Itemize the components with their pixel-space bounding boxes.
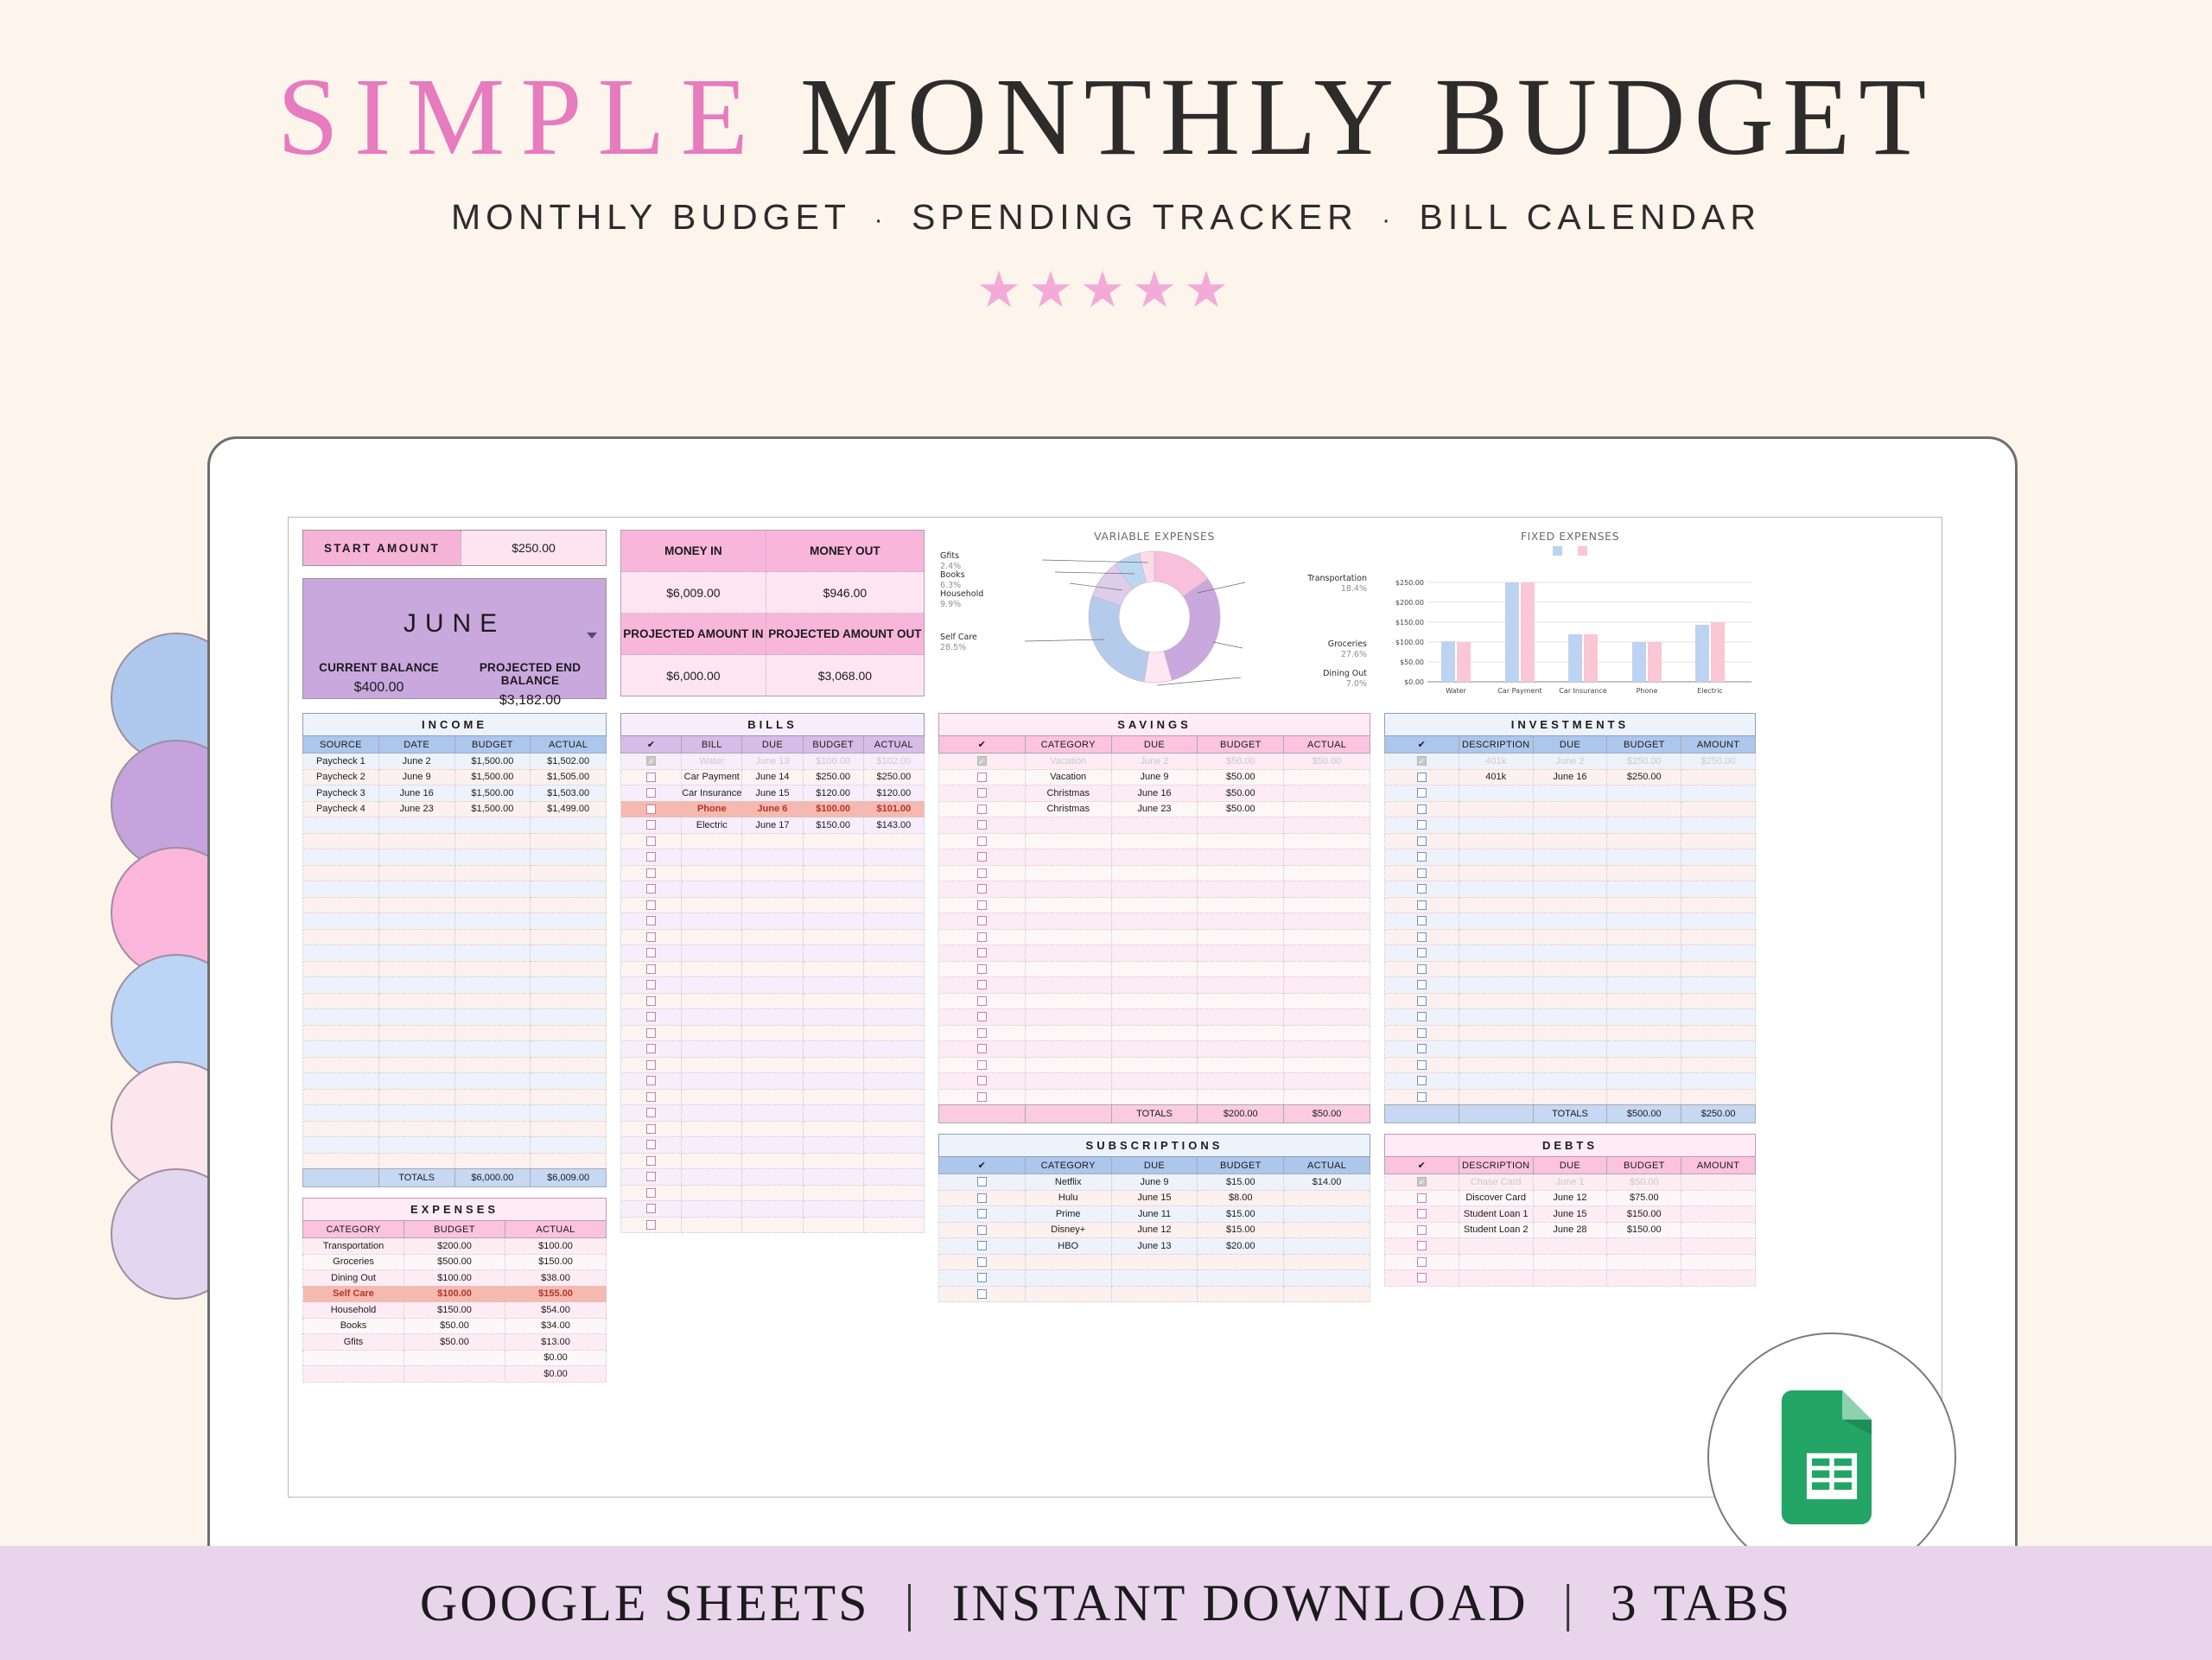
table-cell[interactable] [1607, 977, 1681, 994]
checkbox-icon[interactable] [977, 1012, 987, 1021]
table-cell[interactable] [1607, 817, 1681, 834]
table-cell[interactable] [742, 993, 803, 1009]
table-cell[interactable] [454, 1089, 531, 1105]
row-checkbox-cell[interactable] [939, 1222, 1026, 1238]
table-cell[interactable] [454, 929, 531, 945]
table-cell[interactable] [531, 1089, 607, 1105]
table-cell[interactable] [378, 945, 454, 962]
table-cell[interactable] [1533, 977, 1607, 994]
table-cell[interactable] [303, 945, 379, 962]
table-cell[interactable] [378, 993, 454, 1009]
table-cell[interactable] [1025, 1057, 1111, 1073]
table-cell[interactable] [1025, 1073, 1111, 1090]
table-cell[interactable] [378, 1137, 454, 1154]
row-checkbox-cell[interactable] [1385, 1073, 1459, 1090]
table-cell[interactable] [863, 1025, 924, 1041]
table-cell[interactable] [803, 1041, 863, 1058]
row-checkbox-cell[interactable] [621, 833, 682, 849]
table-cell[interactable] [1607, 1041, 1681, 1058]
row-checkbox-cell[interactable] [939, 801, 1026, 817]
table-cell[interactable]: HBO [1025, 1238, 1111, 1255]
table-cell[interactable]: $500.00 [404, 1254, 505, 1270]
row-checkbox-cell[interactable] [621, 945, 682, 962]
checkbox-icon[interactable] [1417, 805, 1427, 814]
table-cell[interactable] [1533, 897, 1607, 913]
table-cell[interactable]: June 16 [378, 785, 454, 802]
table-cell[interactable] [863, 865, 924, 881]
table-cell[interactable] [1681, 1073, 1756, 1090]
table-cell[interactable] [1607, 945, 1681, 962]
table-cell[interactable] [1533, 865, 1607, 881]
table-cell[interactable] [682, 1185, 742, 1201]
table-cell[interactable]: Chase Card [1459, 1174, 1533, 1191]
table-cell[interactable]: $250.00 [863, 769, 924, 785]
table-cell[interactable] [1284, 1254, 1370, 1270]
table-cell[interactable] [803, 929, 863, 945]
table-cell[interactable] [742, 833, 803, 849]
table-cell[interactable]: June 12 [1533, 1190, 1607, 1206]
table-cell[interactable] [404, 1350, 505, 1366]
table-cell[interactable] [803, 1009, 863, 1026]
table-cell[interactable] [531, 961, 607, 977]
table-cell[interactable] [1111, 961, 1198, 977]
table-cell[interactable] [1025, 1270, 1111, 1287]
table-cell[interactable] [682, 913, 742, 930]
table-cell[interactable] [1533, 929, 1607, 945]
table-cell[interactable] [1284, 1009, 1370, 1026]
checkbox-icon[interactable] [1417, 1273, 1427, 1282]
table-cell[interactable] [1111, 913, 1198, 930]
checkbox-icon[interactable] [646, 1220, 656, 1230]
table-cell[interactable] [1533, 913, 1607, 930]
checkbox-icon[interactable] [977, 916, 987, 925]
table-cell[interactable] [1607, 1089, 1681, 1105]
table-cell[interactable] [742, 929, 803, 945]
table-cell[interactable] [303, 881, 379, 898]
table-cell[interactable] [378, 913, 454, 930]
table-cell[interactable] [303, 1025, 379, 1041]
table-cell[interactable] [682, 1121, 742, 1137]
table-cell[interactable] [1284, 1238, 1370, 1255]
row-checkbox-cell[interactable] [939, 961, 1026, 977]
checkbox-icon[interactable] [646, 1140, 656, 1149]
table-cell[interactable] [1681, 769, 1756, 785]
table-cell[interactable] [863, 1057, 924, 1073]
table-cell[interactable] [1681, 913, 1756, 930]
table-cell[interactable] [303, 961, 379, 977]
table-cell[interactable] [803, 865, 863, 881]
table-cell[interactable] [378, 881, 454, 898]
table-cell[interactable] [863, 1121, 924, 1137]
checkbox-icon[interactable] [977, 836, 987, 846]
table-cell[interactable]: $143.00 [863, 817, 924, 834]
table-cell[interactable] [1681, 1009, 1756, 1026]
checkbox-icon[interactable] [646, 948, 656, 957]
table-cell[interactable] [1533, 1025, 1607, 1041]
table-cell[interactable] [803, 1105, 863, 1122]
checkbox-icon[interactable] [646, 1076, 656, 1085]
table-cell[interactable] [1025, 881, 1111, 898]
table-cell[interactable] [378, 1073, 454, 1090]
checkbox-icon[interactable] [646, 788, 656, 798]
checkbox-icon[interactable] [977, 773, 987, 782]
table-cell[interactable] [1459, 945, 1533, 962]
start-amount-value[interactable]: $250.00 [461, 531, 606, 565]
table-cell[interactable] [454, 865, 531, 881]
row-checkbox-cell[interactable] [621, 881, 682, 898]
table-cell[interactable] [1284, 977, 1370, 994]
table-cell[interactable]: June 2 [378, 754, 454, 770]
table-cell[interactable] [1459, 1089, 1533, 1105]
table-cell[interactable] [303, 1153, 379, 1169]
checkbox-icon[interactable] [1417, 1028, 1427, 1038]
table-cell[interactable] [378, 865, 454, 881]
table-cell[interactable]: June 9 [1111, 1174, 1198, 1191]
checkbox-icon[interactable] [646, 820, 656, 830]
row-checkbox-cell[interactable] [1385, 1057, 1459, 1073]
table-cell[interactable] [378, 817, 454, 834]
table-cell[interactable]: $0.00 [505, 1350, 607, 1366]
table-cell[interactable] [1198, 961, 1284, 977]
row-checkbox-cell[interactable]: ✓ [1385, 754, 1459, 770]
table-cell[interactable] [863, 897, 924, 913]
row-checkbox-cell[interactable] [621, 1217, 682, 1233]
table-cell[interactable]: Student Loan 2 [1459, 1222, 1533, 1238]
table-cell[interactable] [1111, 1041, 1198, 1058]
table-cell[interactable]: $150.00 [1607, 1206, 1681, 1223]
table-cell[interactable] [531, 817, 607, 834]
row-checkbox-cell[interactable] [1385, 801, 1459, 817]
table-cell[interactable] [742, 1217, 803, 1233]
table-cell[interactable] [454, 1137, 531, 1154]
table-cell[interactable] [1111, 849, 1198, 866]
table-cell[interactable] [531, 977, 607, 994]
table-cell[interactable]: June 13 [1111, 1238, 1198, 1255]
table-cell[interactable] [1198, 1009, 1284, 1026]
table-cell[interactable] [682, 1009, 742, 1026]
table-cell[interactable] [1025, 897, 1111, 913]
row-checkbox-cell[interactable] [621, 769, 682, 785]
row-checkbox-cell[interactable] [621, 1089, 682, 1105]
checkbox-icon[interactable] [646, 1092, 656, 1102]
table-cell[interactable] [531, 865, 607, 881]
table-cell[interactable] [863, 977, 924, 994]
checkbox-icon[interactable] [977, 1177, 987, 1186]
checkbox-icon[interactable] [977, 1209, 987, 1218]
table-cell[interactable]: June 28 [1533, 1222, 1607, 1238]
table-cell[interactable] [1284, 913, 1370, 930]
row-checkbox-cell[interactable] [621, 977, 682, 994]
table-cell[interactable]: $100.00 [505, 1238, 607, 1255]
chevron-down-icon[interactable] [587, 633, 597, 639]
table-cell[interactable]: $8.00 [1198, 1190, 1284, 1206]
table-cell[interactable]: $50.00 [1198, 769, 1284, 785]
table-cell[interactable] [1607, 1073, 1681, 1090]
table-cell[interactable] [1459, 1270, 1533, 1287]
row-checkbox-cell[interactable]: ✓ [1385, 1174, 1459, 1191]
table-cell[interactable] [454, 913, 531, 930]
row-checkbox-cell[interactable] [939, 833, 1026, 849]
row-checkbox-cell[interactable] [621, 913, 682, 930]
table-cell[interactable] [1111, 1073, 1198, 1090]
row-checkbox-cell[interactable] [621, 1009, 682, 1026]
table-cell[interactable] [742, 1169, 803, 1186]
checkbox-icon[interactable] [646, 773, 656, 782]
table-cell[interactable] [1284, 1089, 1370, 1105]
table-cell[interactable] [378, 929, 454, 945]
table-cell[interactable] [803, 1073, 863, 1090]
table-cell[interactable] [1459, 833, 1533, 849]
table-cell[interactable]: $50.00 [1198, 785, 1284, 802]
checkbox-icon[interactable] [646, 1204, 656, 1213]
row-checkbox-cell[interactable] [1385, 785, 1459, 802]
checkbox-icon[interactable] [977, 1257, 987, 1267]
table-cell[interactable] [1198, 913, 1284, 930]
table-cell[interactable] [863, 961, 924, 977]
table-cell[interactable] [1284, 1073, 1370, 1090]
checkbox-icon[interactable] [646, 964, 656, 974]
checkbox-icon[interactable] [1417, 916, 1427, 925]
row-checkbox-cell[interactable] [621, 1041, 682, 1058]
table-cell[interactable]: Discover Card [1459, 1190, 1533, 1206]
row-checkbox-cell[interactable] [621, 993, 682, 1009]
table-cell[interactable] [1533, 833, 1607, 849]
table-cell[interactable] [1198, 1073, 1284, 1090]
table-cell[interactable] [1025, 1025, 1111, 1041]
table-cell[interactable] [1198, 833, 1284, 849]
checkbox-icon[interactable] [1417, 948, 1427, 957]
table-cell[interactable] [1198, 1041, 1284, 1058]
checkbox-icon[interactable] [646, 916, 656, 925]
table-cell[interactable] [303, 1366, 404, 1383]
table-cell[interactable] [1025, 1286, 1111, 1302]
table-cell[interactable] [863, 833, 924, 849]
table-cell[interactable]: $75.00 [1607, 1190, 1681, 1206]
table-cell[interactable] [742, 865, 803, 881]
table-cell[interactable] [378, 897, 454, 913]
table-cell[interactable] [1025, 945, 1111, 962]
table-cell[interactable] [742, 1073, 803, 1090]
table-cell[interactable] [454, 833, 531, 849]
row-checkbox-cell[interactable] [939, 977, 1026, 994]
row-checkbox-cell[interactable] [621, 849, 682, 866]
table-cell[interactable]: June 16 [1533, 769, 1607, 785]
row-checkbox-cell[interactable] [939, 1254, 1026, 1270]
table-cell[interactable] [454, 1009, 531, 1026]
row-checkbox-cell[interactable] [939, 1089, 1026, 1105]
table-cell[interactable]: June 6 [742, 801, 803, 817]
table-cell[interactable]: $155.00 [505, 1286, 607, 1302]
table-cell[interactable] [1607, 1025, 1681, 1041]
checkbox-icon[interactable] [977, 1092, 987, 1102]
table-cell[interactable] [1198, 945, 1284, 962]
checkbox-icon[interactable] [977, 900, 987, 910]
table-cell[interactable] [1533, 1057, 1607, 1073]
row-checkbox-cell[interactable] [621, 1137, 682, 1154]
checkbox-icon[interactable] [977, 1225, 987, 1235]
table-cell[interactable] [1284, 865, 1370, 881]
table-cell[interactable] [1111, 1057, 1198, 1073]
row-checkbox-cell[interactable] [1385, 1206, 1459, 1223]
table-cell[interactable] [742, 881, 803, 898]
table-cell[interactable] [1025, 913, 1111, 930]
table-cell[interactable] [803, 849, 863, 866]
table-cell[interactable]: Christmas [1025, 785, 1111, 802]
table-cell[interactable] [1533, 817, 1607, 834]
row-checkbox-cell[interactable] [1385, 1270, 1459, 1287]
row-checkbox-cell[interactable] [939, 1270, 1026, 1287]
row-checkbox-cell[interactable] [939, 1206, 1026, 1223]
table-cell[interactable] [1198, 977, 1284, 994]
table-cell[interactable] [1681, 1190, 1756, 1206]
table-cell[interactable] [803, 1185, 863, 1201]
table-cell[interactable] [742, 1057, 803, 1073]
table-cell[interactable] [742, 1089, 803, 1105]
table-cell[interactable] [1681, 1254, 1756, 1270]
table-cell[interactable] [1459, 993, 1533, 1009]
table-cell[interactable] [1607, 785, 1681, 802]
table-cell[interactable]: $38.00 [505, 1270, 607, 1287]
checkbox-icon[interactable] [977, 1289, 987, 1299]
row-checkbox-cell[interactable] [621, 1185, 682, 1201]
row-checkbox-cell[interactable] [1385, 1190, 1459, 1206]
table-cell[interactable]: Groceries [303, 1254, 404, 1270]
table-cell[interactable] [1284, 817, 1370, 834]
table-cell[interactable] [1533, 1089, 1607, 1105]
table-cell[interactable] [378, 961, 454, 977]
table-cell[interactable] [454, 1041, 531, 1058]
table-cell[interactable] [1681, 945, 1756, 962]
table-cell[interactable] [742, 961, 803, 977]
table-cell[interactable] [303, 1041, 379, 1058]
checkbox-icon[interactable] [646, 1156, 656, 1166]
row-checkbox-cell[interactable] [939, 769, 1026, 785]
table-cell[interactable] [742, 897, 803, 913]
row-checkbox-cell[interactable] [1385, 993, 1459, 1009]
table-cell[interactable] [1459, 865, 1533, 881]
table-cell[interactable] [1459, 1238, 1533, 1255]
table-cell[interactable] [803, 897, 863, 913]
checkbox-icon[interactable] [1417, 1225, 1427, 1235]
table-cell[interactable] [1681, 1222, 1756, 1238]
row-checkbox-cell[interactable] [939, 913, 1026, 930]
table-cell[interactable] [682, 1073, 742, 1090]
table-cell[interactable]: Car Insurance [682, 785, 742, 802]
table-cell[interactable] [531, 1025, 607, 1041]
table-cell[interactable] [531, 1057, 607, 1073]
table-cell[interactable] [1681, 801, 1756, 817]
table-cell[interactable]: Paycheck 2 [303, 769, 379, 785]
table-cell[interactable] [803, 1217, 863, 1233]
checkbox-icon[interactable] [977, 948, 987, 957]
table-cell[interactable] [1111, 929, 1198, 945]
table-cell[interactable] [454, 881, 531, 898]
checkbox-icon[interactable] [977, 820, 987, 830]
table-cell[interactable] [531, 1121, 607, 1137]
table-cell[interactable]: $34.00 [505, 1318, 607, 1334]
table-cell[interactable] [863, 913, 924, 930]
table-cell[interactable] [378, 1089, 454, 1105]
table-cell[interactable]: Electric [682, 817, 742, 834]
checkbox-icon[interactable] [977, 805, 987, 814]
checkbox-icon[interactable] [977, 964, 987, 974]
table-cell[interactable] [1459, 785, 1533, 802]
table-cell[interactable] [1198, 849, 1284, 866]
row-checkbox-cell[interactable] [939, 849, 1026, 866]
table-cell[interactable] [1681, 993, 1756, 1009]
table-cell[interactable] [1681, 1057, 1756, 1073]
checkbox-icon[interactable] [1417, 773, 1427, 782]
table-cell[interactable] [1284, 1286, 1370, 1302]
row-checkbox-cell[interactable] [1385, 769, 1459, 785]
table-cell[interactable] [682, 865, 742, 881]
table-cell[interactable] [742, 1105, 803, 1122]
table-cell[interactable]: Christmas [1025, 801, 1111, 817]
table-cell[interactable] [531, 993, 607, 1009]
table-cell[interactable] [1681, 1206, 1756, 1223]
table-cell[interactable] [1681, 1270, 1756, 1287]
checkbox-icon[interactable] [646, 1012, 656, 1021]
table-cell[interactable]: June 14 [742, 769, 803, 785]
table-cell[interactable] [1533, 1238, 1607, 1255]
table-cell[interactable]: $1,500.00 [454, 769, 531, 785]
table-cell[interactable]: $150.00 [505, 1254, 607, 1270]
table-cell[interactable] [303, 1350, 404, 1366]
table-cell[interactable] [1607, 881, 1681, 898]
table-cell[interactable] [863, 945, 924, 962]
row-checkbox-cell[interactable] [1385, 945, 1459, 962]
table-cell[interactable] [1025, 929, 1111, 945]
table-cell[interactable] [1025, 817, 1111, 834]
checkbox-icon[interactable] [646, 1124, 656, 1134]
checkbox-icon[interactable] [1417, 1012, 1427, 1021]
table-cell[interactable] [1533, 881, 1607, 898]
row-checkbox-cell[interactable] [1385, 929, 1459, 945]
table-cell[interactable]: June 23 [378, 801, 454, 817]
table-cell[interactable] [863, 1105, 924, 1122]
table-cell[interactable]: $15.00 [1198, 1174, 1284, 1191]
table-cell[interactable] [803, 913, 863, 930]
table-cell[interactable] [682, 897, 742, 913]
table-cell[interactable] [1025, 865, 1111, 881]
table-cell[interactable] [303, 1137, 379, 1154]
row-checkbox-cell[interactable] [939, 1025, 1026, 1041]
table-cell[interactable] [682, 849, 742, 866]
table-cell[interactable]: June 17 [742, 817, 803, 834]
checkbox-icon[interactable] [646, 805, 656, 814]
row-checkbox-cell[interactable] [1385, 1041, 1459, 1058]
checkbox-icon[interactable] [1417, 836, 1427, 846]
table-cell[interactable] [1111, 993, 1198, 1009]
checkbox-icon[interactable] [1417, 1209, 1427, 1218]
table-cell[interactable]: Paycheck 1 [303, 754, 379, 770]
table-cell[interactable] [1533, 961, 1607, 977]
row-checkbox-cell[interactable] [939, 1041, 1026, 1058]
table-cell[interactable]: June 1 [1533, 1174, 1607, 1191]
table-cell[interactable] [378, 1153, 454, 1169]
table-cell[interactable] [803, 1025, 863, 1041]
checkbox-icon[interactable] [977, 884, 987, 894]
table-cell[interactable] [1533, 785, 1607, 802]
table-cell[interactable] [303, 913, 379, 930]
checkbox-icon[interactable] [1417, 1044, 1427, 1053]
table-cell[interactable]: Vacation [1025, 769, 1111, 785]
table-cell[interactable] [863, 1009, 924, 1026]
table-cell[interactable] [863, 1073, 924, 1090]
table-cell[interactable] [303, 1105, 379, 1122]
table-cell[interactable] [1681, 1238, 1756, 1255]
table-cell[interactable] [1111, 1089, 1198, 1105]
